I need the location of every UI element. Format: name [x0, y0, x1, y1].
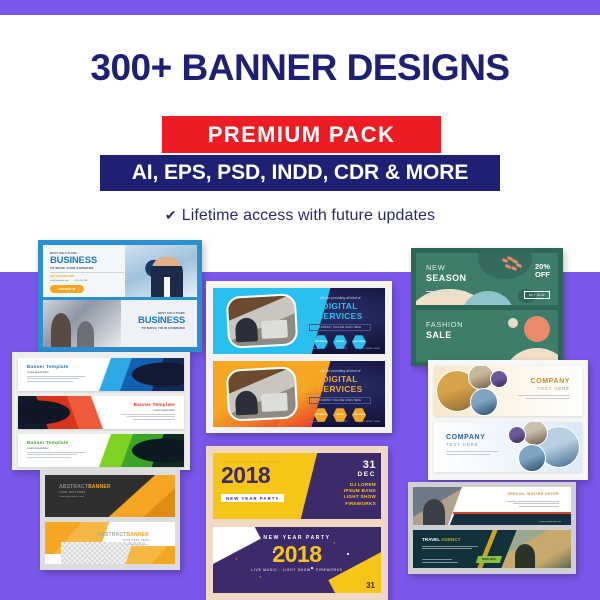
book-now-label: BOOK NOW [482, 558, 496, 561]
detail-photo-circle [508, 426, 526, 444]
banner-digital-services-blue: We are providing all kind of DIGITAL SER… [213, 288, 385, 354]
body-lines [446, 451, 498, 455]
digital-tagline: COMPANY TAGLINE GOES HERE [309, 397, 371, 404]
blob-decor [524, 316, 550, 342]
banner-business-primary: BEST SOLUTIONS BUSINESS TO MOVE YOUR FOR… [43, 245, 197, 297]
fashion-line-2: SALE [426, 330, 463, 340]
digital-logo-text: COMPANY NAME [363, 348, 380, 350]
business-link: GET STARTED NOW [50, 275, 132, 278]
offer-website: www.yourwebsite.com [539, 521, 561, 523]
banner-business-secondary: BEST SOLUTIONS BUSINESS TO MOVE YOUR FOR… [43, 300, 197, 347]
business-cta-button[interactable]: CONTACT US [50, 285, 84, 293]
mockup-group-business: BEST SOLUTIONS BUSINESS TO MOVE YOUR FOR… [38, 240, 202, 352]
divider [50, 272, 124, 273]
abstract-word-1: ABSTRACT [97, 532, 126, 538]
fashion-line-1: FASHION [426, 320, 463, 329]
mockup-group-company: COMPANY TEXT HERE COMPANY TEXT HERE [428, 360, 588, 480]
new-year-day: 31 [326, 460, 376, 471]
company-subtitle: TEXT HERE [518, 386, 570, 391]
new-year-party-label: NEW YEAR PARTY [221, 494, 284, 502]
company-title: COMPANY [446, 434, 498, 441]
company-subtitle: TEXT HERE [446, 442, 498, 447]
file-formats-badge: AI, EPS, PSD, INDD, CDR & MORE [100, 155, 500, 191]
workspace-photo [226, 293, 299, 349]
business-subtitle-2: TO MOVE YOUR FORWARD [138, 326, 185, 330]
business-email: info@example.com [50, 280, 69, 282]
business-title: BUSINESS [50, 255, 132, 266]
abstract-subtitle: YOUR TEXT HERE [59, 491, 111, 494]
headline-section: 300+ BANNER DESIGNS PREMIUM PACK AI, EPS… [0, 15, 600, 235]
mockup-group-abstract-banners: ABSTRACTBANNER YOUR TEXT HERE Lorem ipsu… [40, 470, 180, 570]
dark-footer-bar [461, 514, 571, 525]
new-year-year: 2018 [213, 543, 381, 566]
abstract-subtitle: YOUR TEXT HERE [97, 539, 149, 542]
new-year-lineup: DJ LOREM IPSUM BAND LIGHT SHOW FIREWORKS [326, 482, 376, 507]
device-photo-circle [518, 444, 546, 472]
digital-eyebrow: We are providing all kind of [301, 296, 379, 300]
business-team-photo [43, 300, 121, 347]
banner-abstract-dark: ABSTRACTBANNER YOUR TEXT HERE Lorem ipsu… [45, 475, 175, 517]
template-body-lines [27, 376, 85, 382]
tagline-text: Lifetime access with future updates [182, 207, 435, 224]
banner-abstract-light: ABSTRACTBANNER YOUR TEXT HERE Lorem ipsu… [45, 522, 175, 564]
banner-new-season: NEW SEASON 20% OFF BUY NOW [416, 253, 558, 305]
template-title: Banner Template [121, 402, 175, 407]
page-title: 300+ BANNER DESIGNS [0, 49, 600, 86]
digital-phone: +123 456 789 [334, 348, 347, 350]
digital-tagline: COMPANY TAGLINE GOES HERE [309, 324, 371, 331]
blob-decor [508, 318, 518, 328]
star-icon: ✦ [259, 575, 262, 579]
businessman-figure [151, 257, 183, 297]
digital-eyebrow: We are providing all kind of [301, 369, 379, 373]
digital-logo-text: COMPANY NAME [363, 421, 380, 423]
template-title: Banner Template [27, 440, 85, 445]
new-year-sub: LIVE MUSIC · LIGHT SHOW · FIREWORKS [213, 568, 381, 572]
template-subtitle: Lorem ipsum dolor [27, 371, 85, 374]
abstract-word-1: ABSTRACT [59, 484, 88, 490]
swirl-graphic [18, 396, 104, 429]
template-title: Banner Template [27, 364, 85, 369]
travel-title-2: AGENCY [441, 537, 461, 542]
body-lines [518, 395, 570, 399]
mockup-group-digital-services: We are providing all kind of DIGITAL SER… [206, 281, 392, 433]
business-phone: +123 456 789 [74, 280, 87, 282]
digital-title: DIGITAL SERVICES [301, 301, 379, 321]
body-lines [422, 544, 478, 549]
template-subtitle: Lorem ipsum dolor [121, 409, 175, 412]
mockup-group-new-year: LOREM IPSUM DOLOR SIT AMET 2018 NEW YEAR… [206, 446, 388, 600]
template-subtitle: Lorem ipsum dolor [27, 447, 85, 450]
premium-pack-label: PREMIUM PACK [208, 122, 396, 148]
travel-title-1: TRAVEL [422, 537, 440, 542]
business-subtitle: TO MOVE YOUR FORWARD [50, 266, 132, 270]
banner-new-year-purple: ✦ ✦ ✦ NEW YEAR PARTY 2018 LIVE MUSIC · L… [213, 527, 381, 593]
swirl-graphic [98, 358, 184, 391]
banner-company-gold: COMPANY TEXT HERE [434, 366, 582, 416]
new-year-month: DEC [326, 471, 376, 478]
digital-title: DIGITAL SERVICES [301, 374, 379, 394]
body-lines [426, 289, 466, 295]
workspace-photo [226, 366, 299, 422]
book-now-button[interactable]: BOOK NOW [476, 556, 502, 563]
file-formats-label: AI, EPS, PSD, INDD, CDR & MORE [132, 161, 469, 185]
logo-icon: ✦ [358, 346, 361, 351]
detail-photo-circle [490, 370, 508, 388]
banner-template-red: Banner Template Lorem ipsum dolor [18, 396, 184, 429]
template-body-lines [27, 452, 85, 458]
banner-new-year-yellow: LOREM IPSUM DOLOR SIT AMET 2018 NEW YEAR… [213, 453, 381, 519]
banner-template-blue: Banner Template Lorem ipsum dolor [18, 358, 184, 391]
contact-lines [422, 558, 458, 563]
abstract-note: Lorem ipsum dolor sit amet [59, 496, 111, 498]
season-line-1: NEW [426, 263, 466, 272]
business-photo [125, 245, 197, 297]
digital-website: www.website.com [307, 348, 324, 350]
banner-special-offer: SPECIAL WINTER OFFER www.yourwebsite.com [413, 487, 571, 525]
new-year-day: 31 [366, 581, 375, 590]
template-body-lines [121, 414, 175, 420]
check-icon: ✔ [165, 207, 177, 223]
leaf-icon [502, 257, 524, 277]
banner-travel-agency: TRAVEL AGENCY BOOK NOW [413, 530, 571, 568]
banner-template-green: Banner Template Lorem ipsum dolor [18, 434, 184, 467]
discount-label: 20% OFF [535, 263, 550, 279]
digital-phone: +123 456 789 [334, 421, 347, 423]
swirl-graphic [98, 434, 184, 467]
company-title: COMPANY [518, 378, 570, 385]
business-title-2: BUSINESS [138, 315, 185, 326]
promo-poster: 300+ BANNER DESIGNS PREMIUM PACK AI, EPS… [0, 0, 600, 600]
banner-company-blue: COMPANY TEXT HERE [434, 422, 582, 472]
season-line-2: SEASON [426, 273, 466, 283]
abstract-word-2: BANNER [88, 484, 111, 490]
abstract-note: Lorem ipsum dolor sit amet [97, 544, 149, 546]
new-year-year: 2018 [221, 465, 321, 487]
buy-now-button[interactable]: BUY NOW [524, 291, 550, 299]
banner-digital-services-orange: We are providing all kind of DIGITAL SER… [213, 361, 385, 427]
mockup-group-banner-templates: Banner Template Lorem ipsum dolor Banner… [12, 352, 190, 470]
mockup-group-fashion: NEW SEASON 20% OFF BUY NOW FASHION SALE [411, 248, 563, 366]
top-accent-strip [0, 0, 600, 15]
device-photo-circle [470, 388, 498, 416]
logo-icon: ✦ [358, 419, 361, 424]
mockup-group-travel: SPECIAL WINTER OFFER www.yourwebsite.com… [408, 482, 576, 574]
digital-website: www.website.com [307, 421, 324, 423]
body-lines [507, 499, 559, 507]
premium-pack-badge: PREMIUM PACK [162, 116, 441, 153]
tagline-row: ✔Lifetime access with future updates [0, 207, 600, 225]
offer-heading: SPECIAL WINTER OFFER [508, 492, 559, 496]
banner-fashion-sale: FASHION SALE [416, 310, 558, 362]
abstract-word-2: BANNER [126, 532, 149, 538]
